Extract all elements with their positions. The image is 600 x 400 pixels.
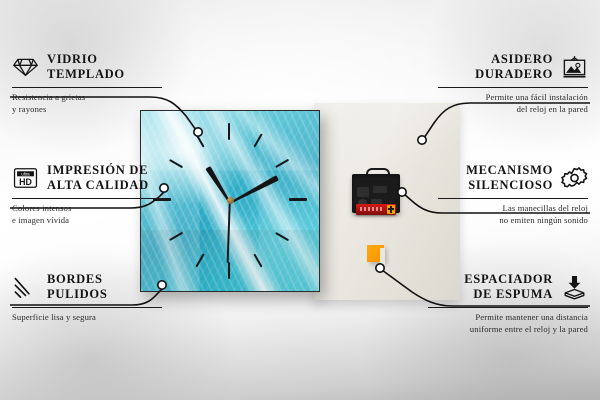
feature-title-line1: MECANISMO [466,163,553,177]
feature-divider [428,307,588,308]
feature-title: VIDRIO TEMPLADO [47,52,125,83]
connector-dot-vidrio-templado [194,128,202,136]
feature-subtitle-line1: Superficie lisa y segura [12,312,96,322]
feature-title: ASIDERO DURADERO [475,52,553,83]
feature-espaciador-de-espuma: ESPACIADOR DE ESPUMA Permite mantener un… [428,272,588,336]
feature-subtitle-line1: Permite mantener una distancia [475,312,588,322]
feature-title-line2: DURADERO [475,67,553,81]
ultra-hd-icon: ultra HD [12,165,39,191]
feature-divider [12,87,162,88]
gear-icon [561,165,588,191]
feature-divider [438,198,588,199]
feature-subtitle-line2: uniforme entre el reloj y la pared [470,324,588,334]
feature-subtitle: Superficie lisa y segura [12,312,162,324]
feature-subtitle-line2: y rayones [12,104,47,114]
feature-divider [438,87,588,88]
feature-asidero-duradero: ASIDERO DURADERO Permite una fácil insta… [438,52,588,116]
feature-title-line1: IMPRESIÓN DE [47,163,148,177]
feature-subtitle: Permite mantener una distancia uniforme … [428,312,588,336]
feature-subtitle-line2: no emiten ningún sonido [499,215,588,225]
feature-bordes-pulidos: BORDES PULIDOS Superficie lisa y segura [12,272,162,324]
feature-title-line1: VIDRIO [47,52,98,66]
feature-mecanismo-silencioso: MECANISMO SILENCIOSO Las manecillas del … [438,163,588,227]
feature-heading-row: VIDRIO TEMPLADO [12,52,162,83]
feature-heading-row: ESPACIADOR DE ESPUMA [428,272,588,303]
feature-impresion-alta-calidad: ultra HD IMPRESIÓN DE ALTA CALIDAD Color… [12,163,162,227]
diamond-icon [12,54,39,80]
ultra-hd-icon-small-text: ultra [21,172,30,177]
connector-dot-mecanismo [398,188,406,196]
feature-subtitle: Colores intensos e imagen vívida [12,203,162,227]
feature-title-line2: PULIDOS [47,287,107,301]
feature-subtitle-line2: del reloj en la pared [517,104,588,114]
feature-subtitle-line1: Permite una fácil instalación [486,92,588,102]
feature-subtitle-line1: Resistencia a grietas [12,92,85,102]
connector-dot-espaciador [376,264,384,272]
feature-divider [12,307,162,308]
feature-title: BORDES PULIDOS [47,272,107,303]
picture-frame-hanger-icon [561,54,588,80]
feature-heading-row: MECANISMO SILENCIOSO [438,163,588,194]
feature-title-line1: ASIDERO [491,52,553,66]
feature-subtitle-line1: Colores intensos [12,203,71,213]
feature-title-line2: ALTA CALIDAD [47,178,149,192]
feature-title-line1: BORDES [47,272,103,286]
feature-title: ESPACIADOR DE ESPUMA [464,272,553,303]
feature-subtitle: Resistencia a grietas y rayones [12,92,162,116]
feature-heading-row: ultra HD IMPRESIÓN DE ALTA CALIDAD [12,163,162,194]
connector-dot-asidero [418,136,426,144]
feature-subtitle-line2: e imagen vívida [12,215,69,225]
infographic-canvas: VIDRIO TEMPLADO Resistencia a grietas y … [0,0,600,400]
ultra-hd-icon-large-text: HD [19,177,32,187]
polished-edges-icon [12,274,39,300]
feature-heading-row: BORDES PULIDOS [12,272,162,303]
feature-title: MECANISMO SILENCIOSO [466,163,553,194]
feature-subtitle-line1: Las manecillas del reloj [503,203,588,213]
feature-title: IMPRESIÓN DE ALTA CALIDAD [47,163,149,194]
feature-vidrio-templado: VIDRIO TEMPLADO Resistencia a grietas y … [12,52,162,116]
feature-heading-row: ASIDERO DURADERO [438,52,588,83]
feature-title-line2: DE ESPUMA [473,287,553,301]
feature-subtitle: Las manecillas del reloj no emiten ningú… [438,203,588,227]
feature-subtitle: Permite una fácil instalación del reloj … [438,92,588,116]
feature-title-line2: SILENCIOSO [468,178,553,192]
feature-divider [12,198,162,199]
feature-title-line2: TEMPLADO [47,67,125,81]
feature-title-line1: ESPACIADOR [464,272,553,286]
foam-spacer-icon [561,274,588,300]
